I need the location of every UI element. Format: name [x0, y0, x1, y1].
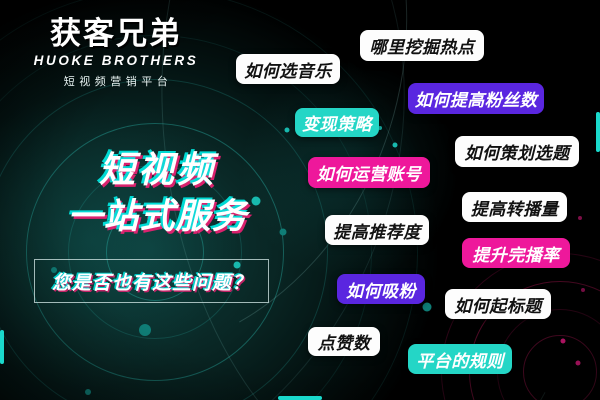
- tag-pill[interactable]: 提升完播率: [462, 238, 570, 268]
- brand-name-en: HUOKE BROTHERS: [26, 53, 206, 68]
- tag-pill[interactable]: 如何吸粉: [337, 274, 425, 304]
- accent-bar: [0, 330, 4, 364]
- headline-line-1: 短视频: [40, 146, 275, 194]
- tag-pill[interactable]: 变现策略: [295, 108, 379, 137]
- brand-logo: 获客兄弟 HUOKE BROTHERS 短视频营销平台: [26, 18, 206, 89]
- headline-line-2: 一站式服务: [40, 194, 275, 240]
- tag-pill[interactable]: 如何起标题: [445, 289, 551, 319]
- tag-pill[interactable]: 提高转播量: [462, 192, 567, 222]
- brand-tagline: 短视频营销平台: [26, 73, 206, 89]
- tag-pill[interactable]: 如何提高粉丝数: [408, 83, 544, 114]
- tag-pill[interactable]: 如何策划选题: [455, 136, 579, 167]
- poster-canvas: 获客兄弟 HUOKE BROTHERS 短视频营销平台 短视频 一站式服务 您是…: [0, 0, 600, 400]
- question-box-text: 您是否也有这些问题？: [42, 268, 262, 295]
- tag-pill[interactable]: 提高推荐度: [325, 215, 429, 245]
- tag-pill[interactable]: 如何运营账号: [308, 157, 430, 188]
- tag-pill[interactable]: 平台的规则: [408, 344, 512, 374]
- tag-pill[interactable]: 如何选音乐: [236, 54, 340, 84]
- accent-bar: [596, 112, 600, 152]
- tag-pill[interactable]: 哪里挖掘热点: [360, 30, 484, 61]
- accent-bar: [278, 396, 322, 400]
- headline-block: 短视频 一站式服务: [40, 146, 275, 240]
- brand-name-cn: 获客兄弟: [26, 18, 206, 51]
- tag-pill[interactable]: 点赞数: [308, 327, 380, 356]
